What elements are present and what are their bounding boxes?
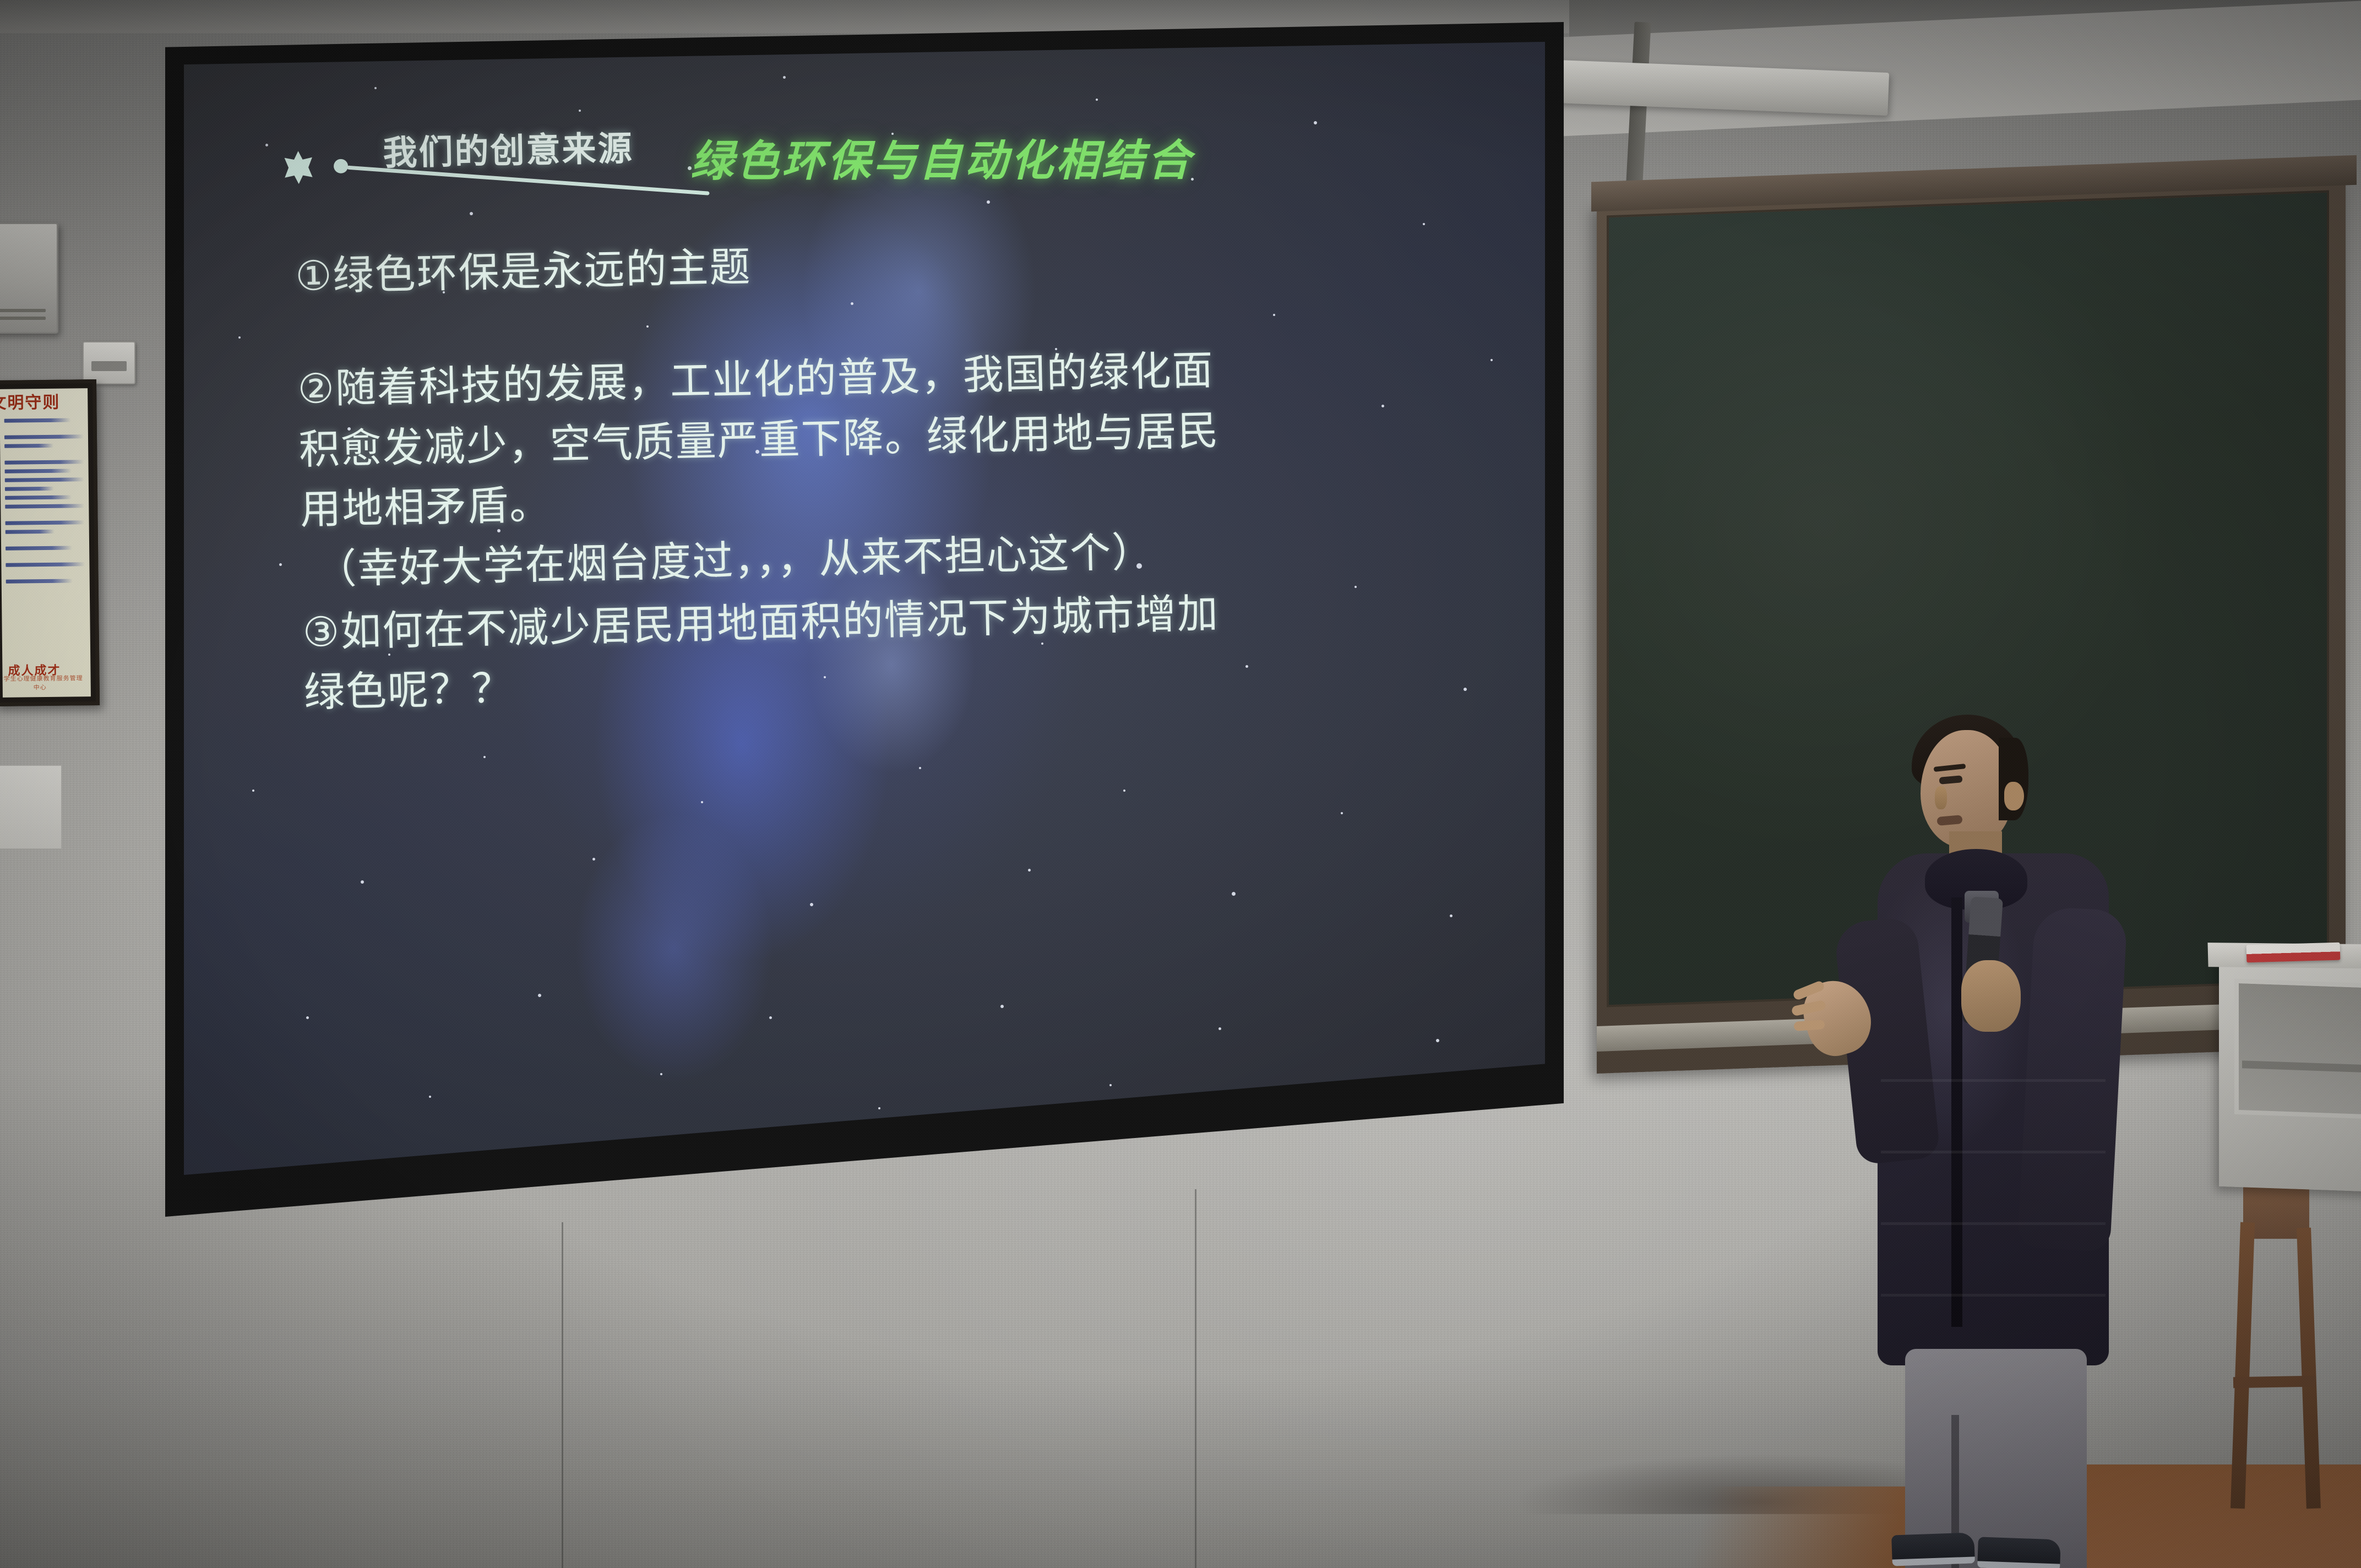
jacket-seam [1881,1294,2106,1297]
presenter-ear [2004,782,2024,810]
wall-seam [562,1222,563,1568]
slide-body: ①绿色环保是永远的主题 ②随着科技的发展，工业化的普及，我国的绿化面 积愈发减少… [295,228,1471,716]
chair-rail [2233,1376,2316,1389]
slide-bullet-2-cont-1: 积愈发减少，空气质量严重下降。绿化用地与居民 [298,401,1466,473]
jacket-seam [1881,1151,2106,1153]
slide-kicker: 我们的创意来源 [383,121,634,175]
projector-screen-assembly: Redleaf [165,22,1624,1250]
slide-bullet-2-cont-2: 用地相矛盾。 [300,461,1467,534]
shoe-sole [1977,1561,2060,1568]
chair-leg [2231,1222,2255,1509]
star-icon [282,151,315,184]
notice-body-lines [4,418,85,583]
notice-heading: 文明守则 [0,394,65,412]
projection-surface: 我们的创意来源 绿色环保与自动化相结合 ①绿色环保是永远的主题 ②随着科技的发展… [184,42,1545,1175]
wooden-chair [2230,1156,2335,1509]
presenter-shoe [1977,1537,2061,1568]
light-switch[interactable] [83,341,135,384]
lectern-shelf [2242,1060,2361,1072]
presenter-shoe [1891,1532,1975,1566]
switch-rocker-icon[interactable] [91,361,127,371]
lectern [2219,955,2361,1192]
slide-bullet-1: ①绿色环保是永远的主题 [295,228,1462,301]
presenter-right-hand [1961,960,2021,1032]
red-book [2246,943,2341,963]
jacket-seam [1881,1079,2106,1082]
classroom-photo-scene: 文明守则 [0,0,2361,1568]
wall-poster [0,765,62,849]
slide-title: 绿色环保与自动化相结合 [690,126,1193,189]
dot-icon [334,159,348,173]
notice-footer-small: 大学生心理健康教育服务管理中心 [0,673,84,692]
slide-content: 我们的创意来源 绿色环保与自动化相结合 ①绿色环保是永远的主题 ②随着科技的发展… [184,42,1545,1175]
vent-slat [0,309,46,312]
jacket-seam [1881,1222,2106,1225]
vent-slat [0,317,46,320]
wall-mounted-unit [0,222,58,334]
notice-paper: 文明守则 [0,388,91,698]
presenter [1817,699,2169,1568]
slide-bullet-2: ②随着科技的发展，工业化的普及，我国的绿化面 [297,341,1465,413]
framed-notice-board: 文明守则 [0,379,100,706]
chair-leg [2297,1228,2321,1509]
slide-aside: （幸好大学在烟台度过，，，从来不担心这个） [301,521,1469,594]
slide-title-row: 我们的创意来源 绿色环保与自动化相结合 [293,96,1467,223]
presenter-nose [1935,786,1947,809]
lectern-cavity [2234,979,2361,1119]
slide-bullet-3-cont: 绿色呢？？ [303,644,1471,717]
slide-bullet-3: ③如何在不减少居民用地面积的情况下为城市增加 [302,584,1470,656]
presenter-jacket-zip [1951,897,1962,1327]
